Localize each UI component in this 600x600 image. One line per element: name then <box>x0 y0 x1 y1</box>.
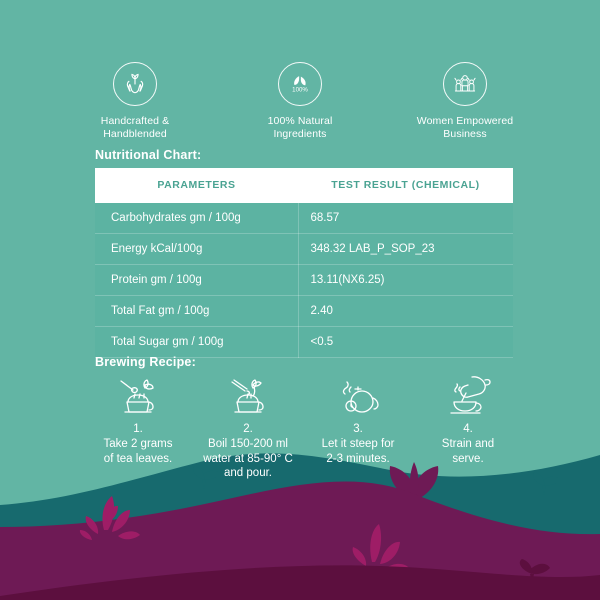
cell-parameter: Protein gm / 100g <box>95 265 298 296</box>
brewing-step-4: 4. Strain andserve. <box>413 372 523 481</box>
brewing-step-number: 4. <box>463 422 473 436</box>
brewing-step-2: 2. Boil 150-200 mlwater at 85-90° Cand p… <box>193 372 303 481</box>
badge-label: Women EmpoweredBusiness <box>417 115 513 141</box>
brewing-step-text: Boil 150-200 mlwater at 85-90° Cand pour… <box>203 437 293 481</box>
teapot-pour-into-cup-icon <box>442 372 494 418</box>
brewing-recipe-title: Brewing Recipe: <box>95 355 196 369</box>
cell-result: 68.57 <box>298 203 513 234</box>
leaf-sprig-icon <box>533 472 560 495</box>
brewing-step-text: Take 2 gramsof tea leaves. <box>103 437 172 466</box>
badge-label: 100% NaturalIngredients <box>268 115 333 141</box>
purple-hill-shape <box>0 482 600 600</box>
natural-leaf-100-percent-icon: 100% <box>278 62 322 106</box>
brewing-step-number: 2. <box>243 422 253 436</box>
table-row: Total Fat gm / 100g 2.40 <box>95 296 513 327</box>
teapot-pouring-water-icon <box>222 372 274 418</box>
cell-result: 2.40 <box>298 296 513 327</box>
brewing-step-text: Let it steep for2-3 minutes. <box>322 437 395 466</box>
hands-holding-leaf-icon <box>113 62 157 106</box>
brewing-step-number: 3. <box>353 422 363 436</box>
nutritional-chart-title: Nutritional Chart: <box>95 148 201 162</box>
badge-label: Handcrafted &Handblended <box>101 115 169 141</box>
cell-parameter: Energy kCal/100g <box>95 234 298 265</box>
cell-result: <0.5 <box>298 327 513 358</box>
plant-cluster-icon <box>80 496 140 540</box>
badge-natural: 100% 100% NaturalIngredients <box>225 62 375 141</box>
table-row: Total Sugar gm / 100g <0.5 <box>95 327 513 358</box>
cell-parameter: Total Fat gm / 100g <box>95 296 298 327</box>
teapot-timer-icon <box>332 372 384 418</box>
badge-women-empowered: Women EmpoweredBusiness <box>390 62 540 141</box>
plant-cluster-icon <box>353 524 409 572</box>
table-row: Carbohydrates gm / 100g 68.57 <box>95 203 513 234</box>
dark-foreground-shape <box>0 565 600 600</box>
teapot-spoon-leaves-icon <box>112 372 164 418</box>
cell-result: 13.11(NX6.25) <box>298 265 513 296</box>
brewing-steps: 1. Take 2 gramsof tea leaves. <box>83 372 523 481</box>
brewing-step-number: 1. <box>133 422 143 436</box>
cell-parameter: Carbohydrates gm / 100g <box>95 203 298 234</box>
leaf-sprig-icon <box>520 559 550 584</box>
brewing-step-1: 1. Take 2 gramsof tea leaves. <box>83 372 193 481</box>
badge-handcrafted: Handcrafted &Handblended <box>60 62 210 141</box>
brewing-step-text: Strain andserve. <box>442 437 494 466</box>
feature-badges: Handcrafted &Handblended 100% 100% Natur… <box>60 62 540 141</box>
cell-parameter: Total Sugar gm / 100g <box>95 327 298 358</box>
women-empowered-business-icon <box>443 62 487 106</box>
column-header-parameters: PARAMETERS <box>95 168 298 203</box>
svg-text:100%: 100% <box>292 86 308 93</box>
table-header-row: PARAMETERS TEST RESULT (CHEMICAL) <box>95 168 513 203</box>
table-row: Protein gm / 100g 13.11(NX6.25) <box>95 265 513 296</box>
table-row: Energy kCal/100g 348.32 LAB_P_SOP_23 <box>95 234 513 265</box>
product-info-panel: Handcrafted &Handblended 100% 100% Natur… <box>0 0 600 600</box>
cell-result: 348.32 LAB_P_SOP_23 <box>298 234 513 265</box>
brewing-step-3: 3. Let it steep for2-3 minutes. <box>303 372 413 481</box>
column-header-test-result: TEST RESULT (CHEMICAL) <box>298 168 513 203</box>
nutritional-chart-table: PARAMETERS TEST RESULT (CHEMICAL) Carboh… <box>95 168 513 358</box>
